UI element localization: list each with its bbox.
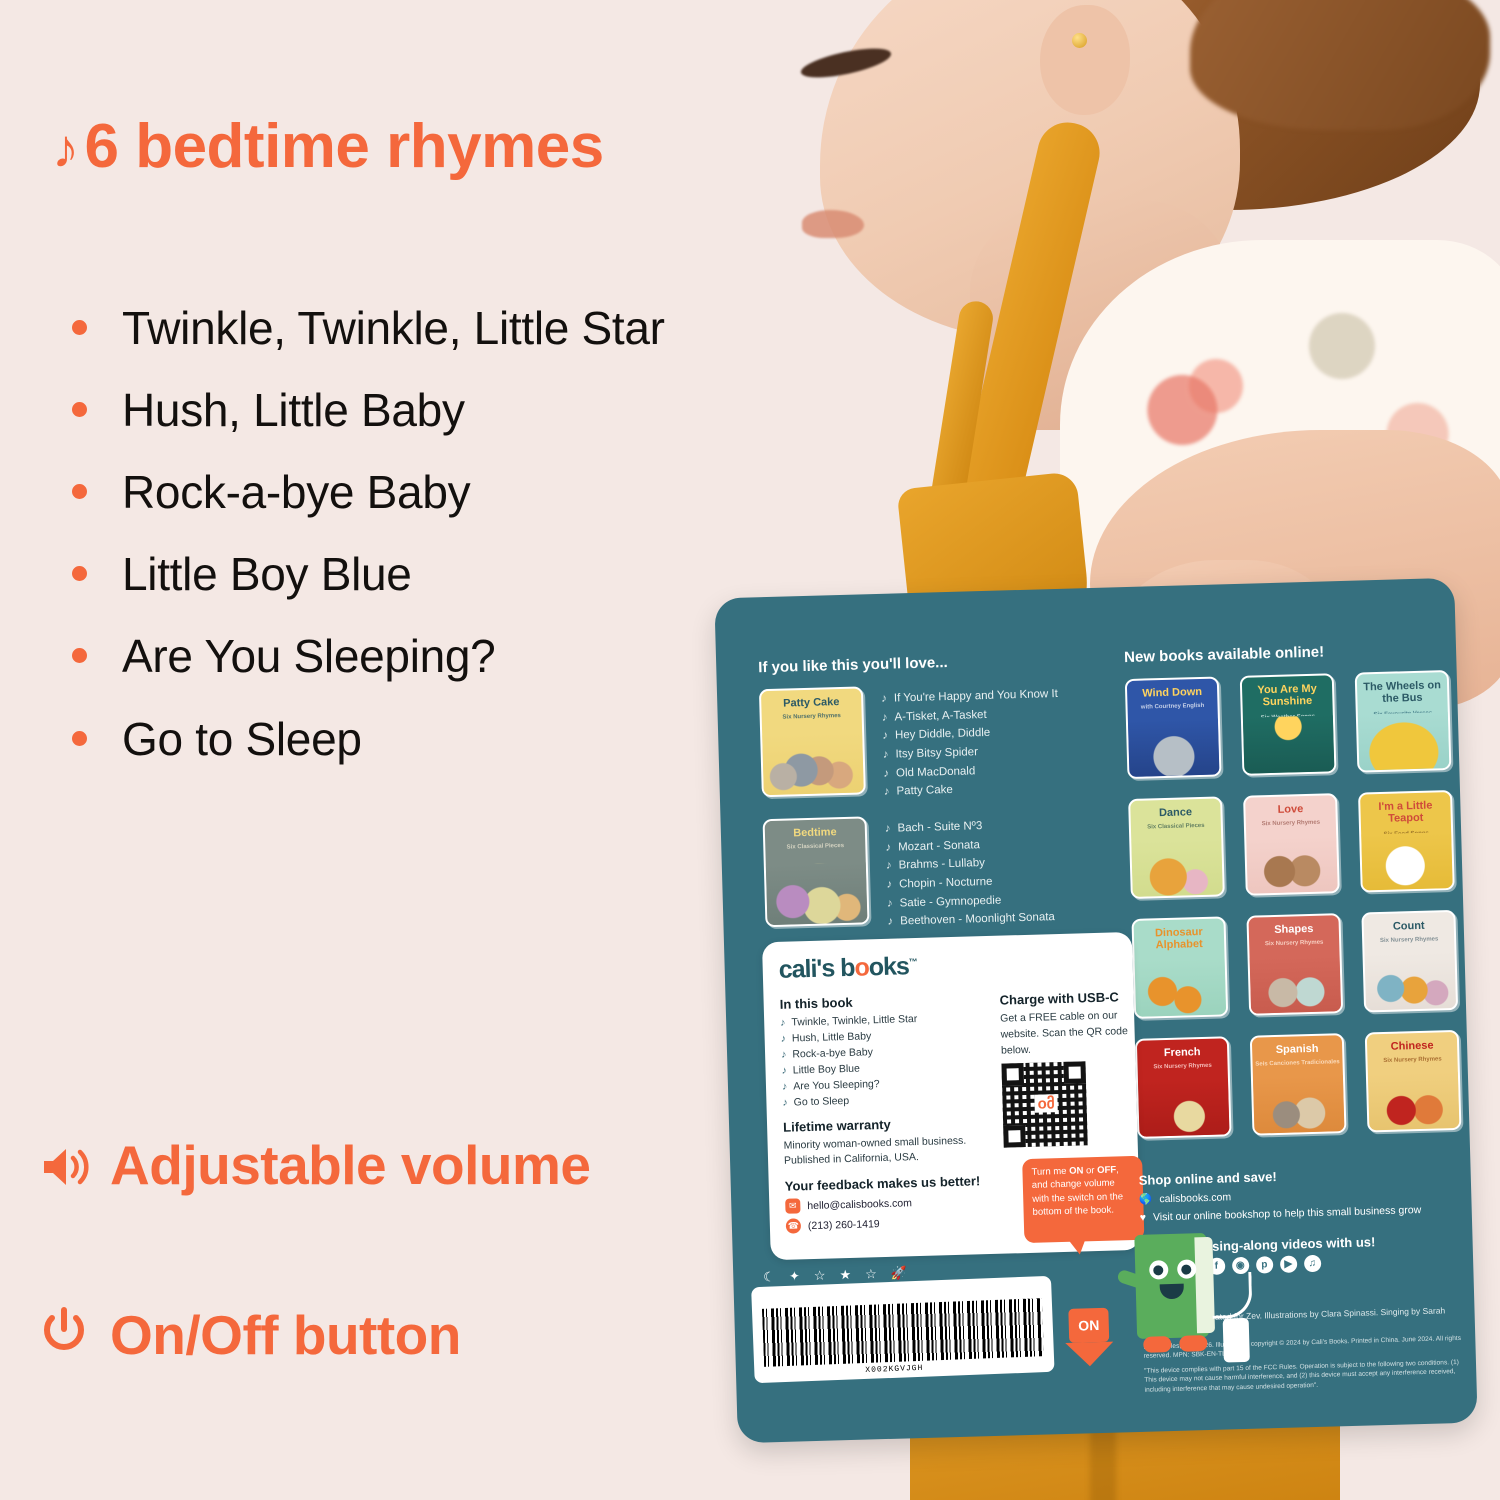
qr-finder-bottomleft — [1003, 1125, 1026, 1148]
minicover-french: French Six Nursery Rhymes — [1135, 1036, 1232, 1139]
list-item: Go to Sleep — [56, 711, 676, 767]
minicover-title: The Wheels on the Bus — [1357, 680, 1448, 706]
minicover-subtitle: Six Classical Pieces — [765, 842, 865, 851]
music-note-icon: ♪ — [52, 119, 79, 179]
minicover-title: Spanish — [1252, 1043, 1342, 1057]
rhyme-list: Twinkle, Twinkle, Little Star Hush, Litt… — [56, 300, 676, 793]
power-icon — [40, 1300, 94, 1370]
minicover-art — [1361, 832, 1453, 890]
in-this-book-list: Twinkle, Twinkle, Little Star Hush, Litt… — [780, 1010, 993, 1112]
minicover-subtitle: Six Nursery Rhymes — [762, 712, 862, 721]
child-ear — [1040, 5, 1130, 115]
minicover-patty-cake: Patty Cake Six Nursery Rhymes — [759, 686, 866, 797]
on-arrow-label: ON — [1068, 1308, 1109, 1343]
minicover-art — [1131, 839, 1223, 897]
minicover-title: French — [1137, 1046, 1227, 1060]
minicover-subtitle: Six Nursery Rhymes — [1367, 1056, 1457, 1065]
envelope-icon: ✉ — [785, 1199, 800, 1214]
minicover-subtitle: Six Nursery Rhymes — [1138, 1062, 1228, 1071]
minicover-title: Shapes — [1249, 923, 1339, 937]
info-card-left-column: In this book Twinkle, Twinkle, Little St… — [779, 982, 996, 1234]
song-item: Patty Cake — [884, 778, 1061, 802]
barcode-label: X002KGVJGH — [751, 1276, 1054, 1383]
minicover-art — [1365, 952, 1457, 1010]
minicover-wheels-on-the-bus: The Wheels on the Bus Six Favourite Vers… — [1355, 670, 1452, 773]
minicover-subtitle: Six Nursery Rhymes — [1364, 936, 1454, 945]
minicover-title: Chinese — [1367, 1040, 1457, 1054]
minicover-subtitle: with Courtney English — [1127, 702, 1217, 711]
minicover-love: Love Six Nursery Rhymes — [1243, 793, 1340, 896]
new-books-title: New books available online! — [1124, 643, 1324, 666]
email-row: ✉ hello@calisbooks.com — [785, 1193, 995, 1214]
minicover-art — [1135, 959, 1227, 1017]
trademark-symbol: ™ — [909, 957, 917, 967]
on-arrow-indicator: ON — [1064, 1308, 1114, 1369]
youtube-icon[interactable]: ▶ — [1280, 1255, 1297, 1272]
list-item: Rock-a-bye Baby — [56, 464, 676, 520]
minicover-title: I'm a Little Teapot — [1360, 800, 1451, 826]
feature-copy-panel: ♪6 bedtime rhymes Twinkle, Twinkle, Litt… — [0, 0, 700, 1500]
child-hair-front — [1190, 0, 1490, 130]
list-item: Little Boy Blue — [56, 546, 676, 602]
minicover-subtitle: Six Nursery Rhymes — [1246, 819, 1336, 828]
patty-cake-song-list: If You're Happy and You Know It A-Tisket… — [881, 685, 1061, 802]
song-item: Beethoven - Moonlight Sonata — [887, 908, 1055, 931]
minicover-title: Wind Down — [1127, 686, 1217, 700]
minicover-art — [1253, 1075, 1345, 1133]
minicover-art — [766, 862, 868, 925]
minicover-subtitle: Seis Canciones Tradicionales — [1252, 1059, 1342, 1068]
charge-heading: Charge with USB-C — [999, 989, 1129, 1008]
minicover-count: Count Six Nursery Rhymes — [1361, 910, 1458, 1013]
barcode-bars — [762, 1298, 1044, 1367]
minicover-title: Dance — [1130, 806, 1220, 820]
minicover-dinosaur-alphabet: Dinosaur Alphabet — [1131, 916, 1228, 1019]
minicover-wind-down: Wind Down with Courtney English — [1125, 676, 1222, 779]
info-card: cali's books™ In this book Twinkle, Twin… — [762, 932, 1141, 1260]
in-this-book-heading: In this book — [779, 991, 989, 1012]
minicover-art — [1368, 1072, 1460, 1130]
list-item: Are You Sleeping? — [56, 628, 676, 684]
minicover-spanish: Spanish Seis Canciones Tradicionales — [1250, 1033, 1347, 1136]
qr-finder-topleft — [1001, 1063, 1024, 1086]
usb-cable-icon — [1211, 1272, 1252, 1319]
minicover-title: Dinosaur Alphabet — [1134, 926, 1225, 952]
website-value: calisbooks.com — [1159, 1189, 1231, 1209]
bubble-off: OFF — [1097, 1165, 1116, 1177]
tiktok-icon[interactable]: ♫ — [1304, 1255, 1321, 1272]
warranty-text: Minority woman-owned small business. Pub… — [783, 1133, 994, 1170]
pinterest-icon[interactable]: p — [1256, 1256, 1273, 1273]
love-section-title: If you like this you'll love... — [758, 654, 948, 676]
feedback-heading: Your feedback makes us better! — [785, 1173, 995, 1194]
qr-center-logo: oმ — [1034, 1094, 1057, 1113]
minicover-art — [1243, 716, 1335, 774]
mascot-foot-right — [1179, 1335, 1207, 1352]
whatsapp-icon: ☎ — [786, 1219, 801, 1234]
info-card-right-column: Charge with USB-C Get a FREE cable on ou… — [999, 980, 1131, 1059]
charge-text: Get a FREE cable on our website. Scan th… — [1000, 1008, 1131, 1059]
feature-adjustable-volume: Adjustable volume — [40, 1135, 590, 1202]
minicover-im-a-little-teapot: I'm a Little Teapot Six Food Songs — [1358, 790, 1455, 893]
bubble-mid: or — [1083, 1165, 1097, 1176]
minicover-title: Love — [1245, 803, 1335, 817]
email-value: hello@calisbooks.com — [807, 1197, 912, 1212]
minicover-art — [1138, 1079, 1230, 1137]
minicover-subtitle: Six Classical Pieces — [1131, 822, 1221, 831]
minicover-title: Patty Cake — [761, 696, 861, 710]
barcode-number: X002KGVJGH — [862, 1364, 926, 1375]
minicover-art — [762, 732, 864, 795]
phone-row: ☎ (213) 260-1419 — [786, 1213, 996, 1234]
minicover-title: Count — [1364, 920, 1454, 934]
minicover-title: Bedtime — [765, 826, 865, 840]
bubble-prefix: Turn me — [1031, 1166, 1069, 1178]
minicover-art — [1358, 712, 1450, 770]
feature-label: Adjustable volume — [110, 1135, 590, 1196]
mascot-foot-left — [1143, 1336, 1171, 1353]
minicover-dance: Dance Six Classical Pieces — [1128, 796, 1225, 899]
list-item: Twinkle, Twinkle, Little Star — [56, 300, 676, 356]
page-title: ♪6 bedtime rhymes — [52, 112, 652, 181]
qr-finder-topright — [1063, 1061, 1086, 1084]
minicover-shapes: Shapes Six Nursery Rhymes — [1246, 913, 1343, 1016]
headline-text: 6 bedtime rhymes — [85, 112, 604, 181]
earring-icon — [1072, 33, 1087, 48]
minicover-art — [1250, 956, 1342, 1014]
minicover-art — [1128, 719, 1220, 777]
warranty-heading: Lifetime warranty — [783, 1114, 993, 1135]
usb-c-plug-icon — [1223, 1318, 1250, 1363]
bubble-on: ON — [1069, 1165, 1084, 1176]
phone-value: (213) 260-1419 — [808, 1218, 880, 1232]
minicover-art — [1246, 836, 1338, 894]
feature-label: On/Off button — [110, 1305, 461, 1366]
minicover-bedtime: Bedtime Six Classical Pieces — [763, 816, 870, 927]
bedtime-song-list: Bach - Suite Nº3 Mozart - Sonata Brahms … — [885, 815, 1056, 931]
speaker-volume-icon — [40, 1135, 94, 1202]
book-back-cover: If you like this you'll love... New book… — [714, 578, 1477, 1443]
book-mascot — [1124, 1214, 1249, 1382]
brand-logo: cali's books™ — [778, 946, 1117, 984]
list-item: Hush, Little Baby — [56, 382, 676, 438]
minicover-subtitle: Six Nursery Rhymes — [1249, 939, 1339, 948]
minicover-title: You Are My Sunshine — [1242, 683, 1333, 709]
on-arrow-tip — [1065, 1342, 1114, 1367]
minicover-you-are-my-sunshine: You Are My Sunshine Six Weather Songs — [1240, 673, 1337, 776]
child-lips — [802, 210, 864, 238]
logo-o-accent: o — [854, 953, 869, 981]
feature-onoff-button: On/Off button — [40, 1300, 461, 1370]
globe-icon: 🌎 — [1139, 1192, 1153, 1210]
minicover-chinese: Chinese Six Nursery Rhymes — [1365, 1030, 1462, 1133]
